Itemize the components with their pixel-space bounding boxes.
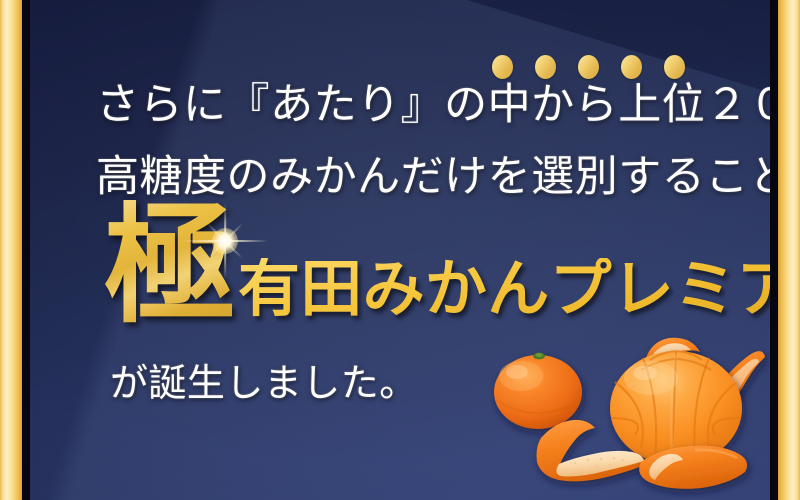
headline-line-4: が誕生しました。 — [110, 352, 418, 407]
mikan-artwork-group — [455, 330, 770, 498]
emphasis-kanji-kiwami: 極 — [104, 200, 236, 332]
border-separator-left — [22, 0, 30, 500]
border-separator-right — [770, 0, 778, 500]
gold-border-left-gradient — [0, 0, 22, 500]
whole-mikan-icon — [494, 353, 582, 429]
promo-banner: さらに『あたり』の中から上位２０％の 高糖度のみかんだけを選別することで、 極 … — [0, 0, 800, 500]
banner-stage: さらに『あたり』の中から上位２０％の 高糖度のみかんだけを選別することで、 極 … — [30, 0, 770, 500]
headline-line-1: さらに『あたり』の中から上位２０％の — [96, 70, 770, 132]
gold-border-left — [0, 0, 22, 500]
gold-border-right-gradient — [778, 0, 800, 500]
gold-border-right — [778, 0, 800, 500]
product-name-gold: 有田みかんプレミアム — [238, 258, 770, 320]
